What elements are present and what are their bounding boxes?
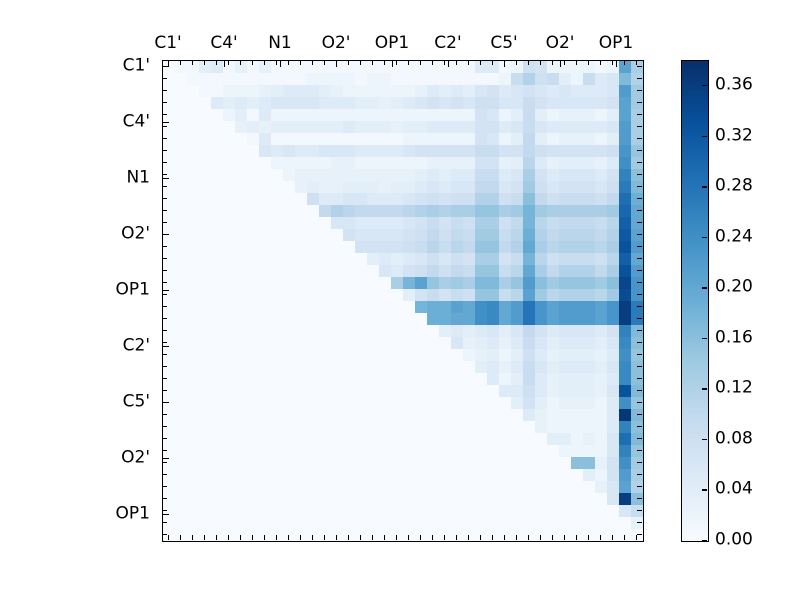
x-tick-minor — [300, 60, 301, 65]
x-tick-minor — [516, 60, 517, 65]
x-tick-minor-bottom — [324, 535, 325, 540]
y-tick-minor-right — [637, 234, 642, 235]
x-tick-minor — [576, 60, 577, 65]
colorbar-tick-label: 0.12 — [715, 380, 753, 397]
y-tick-minor-right — [637, 306, 642, 307]
y-tick-minor — [162, 426, 167, 427]
x-tick-minor-bottom — [372, 535, 373, 540]
x-tick-minor-bottom — [228, 535, 229, 540]
y-tick-minor — [162, 198, 167, 199]
x-tick-minor — [252, 60, 253, 65]
x-tick-major — [224, 60, 225, 67]
y-tick-minor — [162, 330, 167, 331]
x-tick-minor-bottom — [576, 535, 577, 540]
x-tick-minor — [312, 60, 313, 65]
x-tick-minor-bottom — [300, 535, 301, 540]
colorbar-tick-label: 0.32 — [715, 127, 753, 144]
x-tick-minor — [204, 60, 205, 65]
x-tick-minor-bottom — [312, 535, 313, 540]
y-tick-minor — [162, 174, 167, 175]
y-tick-minor — [162, 498, 167, 499]
x-tick-label: C5' — [490, 35, 517, 52]
y-tick-minor — [162, 294, 167, 295]
x-tick-minor — [408, 60, 409, 65]
x-tick-minor-bottom — [636, 535, 637, 540]
x-tick-minor — [528, 60, 529, 65]
x-tick-minor-bottom — [240, 535, 241, 540]
colorbar-tick-label: 0.16 — [715, 329, 753, 346]
x-tick-minor — [324, 60, 325, 65]
y-tick-minor-right — [637, 330, 642, 331]
y-tick-minor-right — [637, 366, 642, 367]
y-tick-minor — [162, 186, 167, 187]
x-tick-minor-bottom — [516, 535, 517, 540]
x-tick-major — [560, 60, 561, 67]
colorbar-tick — [702, 338, 707, 339]
x-tick-minor — [276, 60, 277, 65]
y-tick-minor — [162, 102, 167, 103]
x-tick-minor — [420, 60, 421, 65]
y-tick-minor-right — [637, 426, 642, 427]
x-tick-label: OP1 — [599, 35, 633, 52]
y-tick-minor-right — [637, 354, 642, 355]
y-tick-label: C4' — [0, 114, 150, 131]
x-tick-label: N1 — [268, 35, 292, 52]
y-tick-minor — [162, 378, 167, 379]
y-tick-minor-right — [637, 150, 642, 151]
x-tick-minor — [444, 60, 445, 65]
y-tick-minor — [162, 462, 167, 463]
x-tick-minor — [432, 60, 433, 65]
y-tick-minor — [162, 222, 167, 223]
colorbar-tick — [702, 136, 707, 137]
x-tick-minor — [492, 60, 493, 65]
y-tick-major — [162, 290, 169, 291]
y-tick-minor-right — [637, 78, 642, 79]
y-tick-minor-right — [637, 90, 642, 91]
x-tick-minor — [228, 60, 229, 65]
x-tick-minor-bottom — [528, 535, 529, 540]
x-tick-minor — [480, 60, 481, 65]
colorbar-tick-label: 0.24 — [715, 228, 753, 245]
x-tick-minor-bottom — [264, 535, 265, 540]
x-tick-minor — [216, 60, 217, 65]
y-tick-minor — [162, 210, 167, 211]
x-tick-label: C4' — [210, 35, 237, 52]
colorbar-tick-label: 0.36 — [715, 77, 753, 94]
x-tick-minor-bottom — [216, 535, 217, 540]
x-tick-minor-bottom — [564, 535, 565, 540]
x-tick-minor — [348, 60, 349, 65]
x-tick-minor-bottom — [624, 535, 625, 540]
x-tick-minor-bottom — [276, 535, 277, 540]
y-tick-minor-right — [637, 462, 642, 463]
x-tick-minor-bottom — [504, 535, 505, 540]
x-tick-minor-bottom — [540, 535, 541, 540]
y-tick-minor-right — [637, 138, 642, 139]
y-tick-minor — [162, 162, 167, 163]
x-tick-minor — [360, 60, 361, 65]
y-tick-minor — [162, 522, 167, 523]
y-tick-minor — [162, 318, 167, 319]
x-tick-minor-bottom — [180, 535, 181, 540]
x-tick-major — [448, 60, 449, 67]
y-tick-label: OP1 — [0, 282, 150, 299]
y-tick-minor — [162, 342, 167, 343]
y-tick-label: N1 — [0, 169, 150, 186]
y-tick-minor-right — [637, 378, 642, 379]
y-tick-minor-right — [637, 198, 642, 199]
x-tick-label: C1' — [154, 35, 181, 52]
y-tick-minor-right — [637, 246, 642, 247]
x-tick-label: O2' — [546, 35, 575, 52]
x-tick-minor — [564, 60, 565, 65]
y-tick-label: O2' — [0, 450, 150, 467]
y-tick-minor — [162, 114, 167, 115]
x-tick-minor — [264, 60, 265, 65]
x-tick-minor-bottom — [588, 535, 589, 540]
colorbar-tick-label: 0.28 — [715, 178, 753, 195]
y-tick-major — [162, 122, 169, 123]
y-tick-minor-right — [637, 390, 642, 391]
y-tick-minor-right — [637, 66, 642, 67]
y-tick-label: C1' — [0, 58, 150, 75]
y-tick-minor — [162, 450, 167, 451]
x-tick-minor-bottom — [360, 535, 361, 540]
y-tick-minor-right — [637, 510, 642, 511]
y-tick-minor-right — [637, 282, 642, 283]
x-tick-label: O2' — [322, 35, 351, 52]
x-tick-major — [616, 60, 617, 67]
colorbar-tick — [702, 540, 707, 541]
y-tick-minor — [162, 438, 167, 439]
y-tick-minor — [162, 534, 167, 535]
colorbar-tick — [702, 388, 707, 389]
x-tick-minor-bottom — [408, 535, 409, 540]
y-tick-minor — [162, 306, 167, 307]
x-tick-minor — [456, 60, 457, 65]
y-tick-label: O2' — [0, 226, 150, 243]
y-tick-minor-right — [637, 114, 642, 115]
colorbar-tick-label: 0.00 — [715, 532, 753, 549]
y-tick-minor-right — [637, 162, 642, 163]
y-tick-major — [162, 346, 169, 347]
y-tick-minor — [162, 90, 167, 91]
y-tick-minor — [162, 258, 167, 259]
x-tick-minor — [540, 60, 541, 65]
x-tick-minor-bottom — [468, 535, 469, 540]
y-tick-major — [162, 402, 169, 403]
colorbar-tick — [702, 439, 707, 440]
colorbar-axes[interactable] — [681, 60, 709, 542]
y-tick-minor-right — [637, 486, 642, 487]
x-tick-major — [280, 60, 281, 67]
x-tick-minor — [588, 60, 589, 65]
x-tick-minor — [600, 60, 601, 65]
x-tick-minor-bottom — [336, 535, 337, 540]
y-tick-major — [162, 178, 169, 179]
x-tick-minor-bottom — [456, 535, 457, 540]
x-tick-minor — [552, 60, 553, 65]
y-tick-minor-right — [637, 258, 642, 259]
y-tick-label: OP1 — [0, 505, 150, 522]
y-tick-minor-right — [637, 174, 642, 175]
x-tick-minor-bottom — [384, 535, 385, 540]
y-tick-minor-right — [637, 522, 642, 523]
x-tick-major — [392, 60, 393, 67]
x-tick-minor-bottom — [168, 535, 169, 540]
y-tick-major — [162, 458, 169, 459]
y-tick-minor — [162, 366, 167, 367]
x-tick-minor-bottom — [432, 535, 433, 540]
colorbar-tick-label: 0.08 — [715, 430, 753, 447]
y-tick-minor-right — [637, 102, 642, 103]
y-tick-minor — [162, 126, 167, 127]
y-tick-minor — [162, 246, 167, 247]
x-tick-minor-bottom — [420, 535, 421, 540]
x-tick-label: C2' — [434, 35, 461, 52]
x-tick-minor-bottom — [612, 535, 613, 540]
y-tick-minor-right — [637, 438, 642, 439]
x-tick-minor — [192, 60, 193, 65]
y-tick-minor — [162, 150, 167, 151]
x-tick-minor-bottom — [552, 535, 553, 540]
y-tick-minor-right — [637, 270, 642, 271]
y-tick-major — [162, 514, 169, 515]
colorbar-tick-label: 0.20 — [715, 279, 753, 296]
x-tick-minor-bottom — [192, 535, 193, 540]
heatmap-axes[interactable] — [162, 60, 644, 542]
y-tick-minor-right — [637, 402, 642, 403]
colorbar-tick — [702, 489, 707, 490]
y-tick-minor-right — [637, 222, 642, 223]
y-tick-minor — [162, 510, 167, 511]
colorbar-gradient — [682, 61, 708, 541]
colorbar-tick — [702, 85, 707, 86]
x-tick-minor — [612, 60, 613, 65]
x-tick-label: OP1 — [375, 35, 409, 52]
y-tick-major — [162, 66, 169, 67]
y-tick-major — [162, 234, 169, 235]
colorbar-tick — [702, 237, 707, 238]
x-tick-major — [336, 60, 337, 67]
y-tick-label: C2' — [0, 337, 150, 354]
y-tick-minor-right — [637, 342, 642, 343]
colorbar-tick — [702, 186, 707, 187]
x-tick-minor — [372, 60, 373, 65]
x-tick-minor-bottom — [600, 535, 601, 540]
x-tick-minor-bottom — [348, 535, 349, 540]
y-tick-minor — [162, 474, 167, 475]
y-tick-minor-right — [637, 450, 642, 451]
y-tick-minor-right — [637, 414, 642, 415]
x-tick-minor — [624, 60, 625, 65]
y-tick-minor — [162, 270, 167, 271]
x-tick-minor-bottom — [204, 535, 205, 540]
x-tick-minor — [240, 60, 241, 65]
x-tick-minor — [636, 60, 637, 65]
x-tick-major — [504, 60, 505, 67]
y-tick-minor-right — [637, 474, 642, 475]
x-tick-minor-bottom — [492, 535, 493, 540]
y-tick-minor — [162, 414, 167, 415]
y-tick-minor-right — [637, 318, 642, 319]
x-tick-minor — [384, 60, 385, 65]
y-tick-minor-right — [637, 534, 642, 535]
x-tick-minor — [468, 60, 469, 65]
y-tick-minor — [162, 354, 167, 355]
y-tick-label: C5' — [0, 394, 150, 411]
colorbar-tick — [702, 287, 707, 288]
x-tick-minor — [180, 60, 181, 65]
y-tick-minor — [162, 486, 167, 487]
x-tick-minor — [396, 60, 397, 65]
figure-canvas: C1'C4'N1O2'OP1C2'C5'O2'OP1C1'C4'N1O2'OP1… — [0, 0, 800, 600]
y-tick-minor-right — [637, 294, 642, 295]
colorbar-tick-label: 0.04 — [715, 481, 753, 498]
x-tick-minor-bottom — [396, 535, 397, 540]
y-tick-minor — [162, 138, 167, 139]
y-tick-minor — [162, 78, 167, 79]
y-tick-minor-right — [637, 186, 642, 187]
x-tick-minor — [288, 60, 289, 65]
heatmap-image[interactable] — [163, 61, 643, 541]
y-tick-minor-right — [637, 210, 642, 211]
x-tick-minor-bottom — [444, 535, 445, 540]
y-tick-minor-right — [637, 498, 642, 499]
y-tick-minor — [162, 390, 167, 391]
y-tick-minor-right — [637, 126, 642, 127]
x-tick-minor-bottom — [252, 535, 253, 540]
x-tick-minor-bottom — [288, 535, 289, 540]
y-tick-minor — [162, 282, 167, 283]
x-tick-minor-bottom — [480, 535, 481, 540]
